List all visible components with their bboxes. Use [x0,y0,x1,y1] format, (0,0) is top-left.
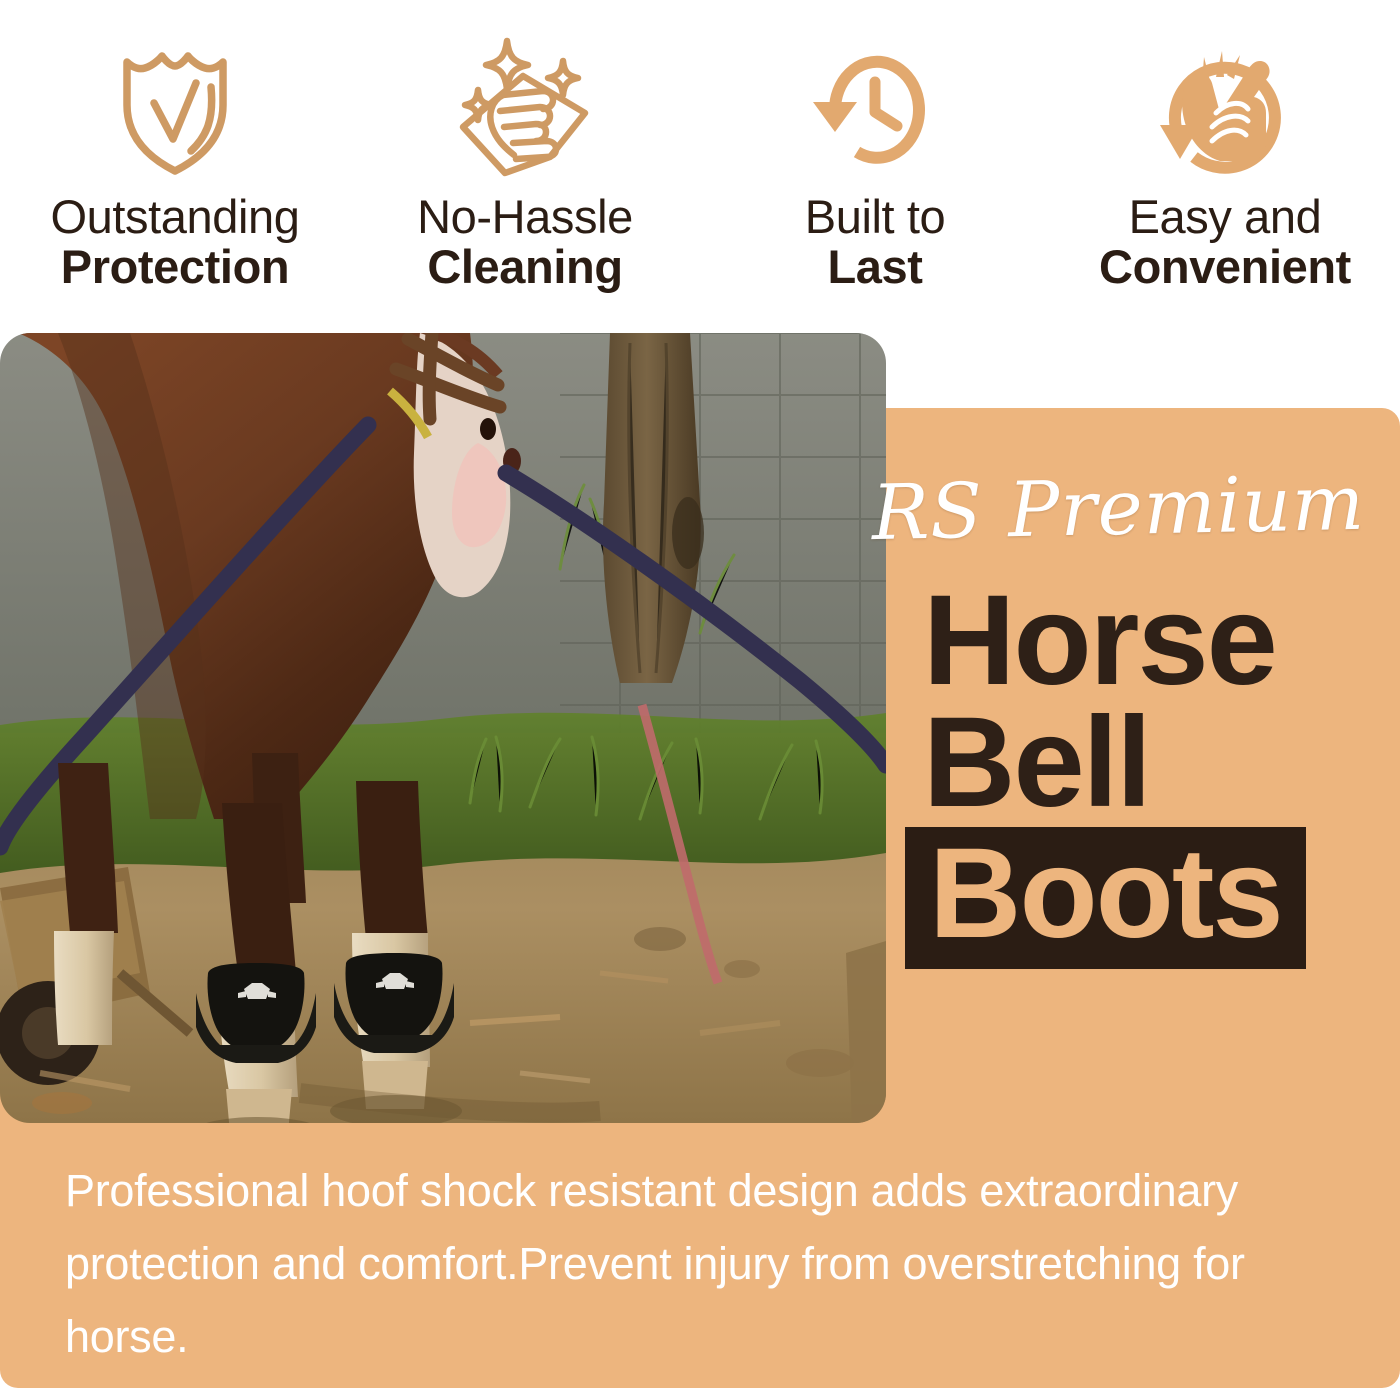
clock-rewind-icon [805,34,945,186]
feature-line1: Easy and [1099,192,1351,242]
feature-label-cleaning: No-Hassle Cleaning [417,192,633,292]
feature-label-protection: Outstanding Protection [50,192,299,292]
feature-line2: Protection [50,242,299,292]
feature-label-convenience: Easy and Convenient [1099,192,1351,292]
feature-line2: Last [805,242,946,292]
feature-item-cleaning: No-Hassle Cleaning [350,0,700,330]
feature-strip: Outstanding Protection [0,0,1400,330]
shield-check-icon [115,34,235,186]
product-title-line1: Horse [923,580,1375,702]
feature-item-convenience: Easy and Convenient [1050,0,1400,330]
product-description: Professional hoof shock resistant design… [65,1155,1275,1374]
feature-line2: Cleaning [417,242,633,292]
feature-line1: Built to [805,192,946,242]
hand-wipe-sparkle-icon [450,34,600,186]
product-title-line3: Boots [929,833,1282,955]
brand-script-label: RS Premium [854,465,1375,552]
feature-item-protection: Outstanding Protection [0,0,350,330]
feature-line1: No-Hassle [417,192,633,242]
feature-line1: Outstanding [50,192,299,242]
feature-line2: Convenient [1099,242,1351,292]
product-photo [0,333,886,1123]
hand-point-circle-icon [1154,34,1296,186]
product-title-line2: Bell [923,702,1375,824]
title-block: RS Premium Horse Bell Boots [855,470,1375,969]
feature-item-durability: Built to Last [700,0,1050,330]
feature-label-durability: Built to Last [805,192,946,292]
product-title-highlight-box: Boots [905,827,1306,969]
